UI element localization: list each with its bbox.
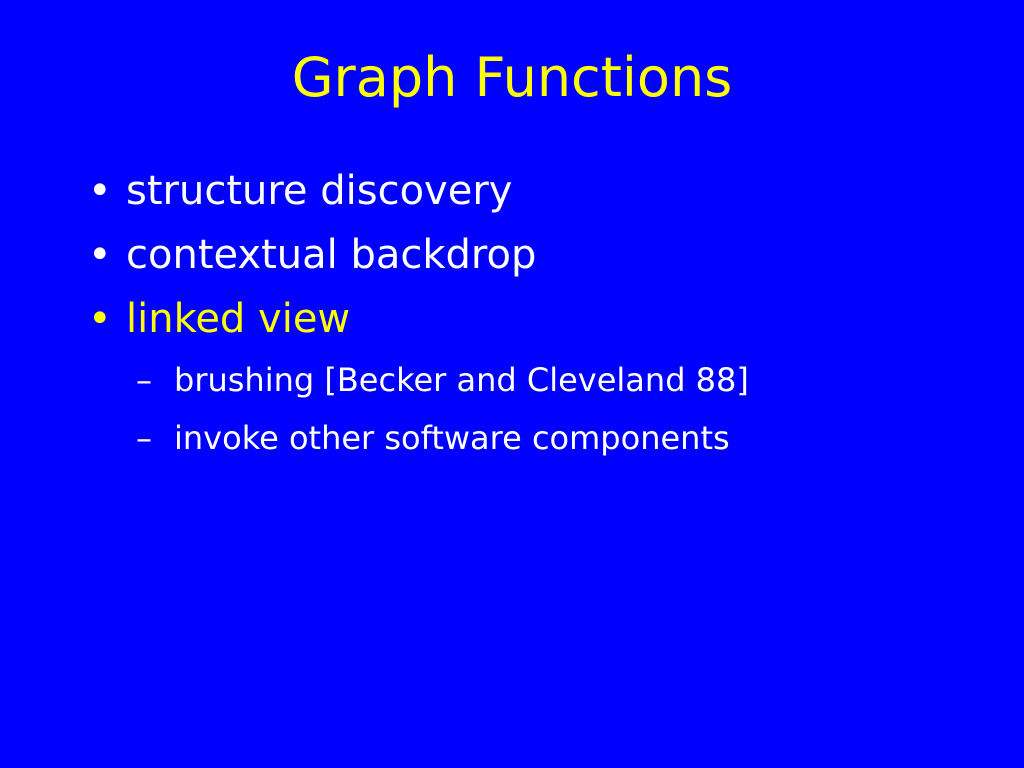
bullet-item-linked-view: • linked view bbox=[0, 296, 1024, 360]
bullet-text: contextual backdrop bbox=[126, 232, 536, 278]
presentation-slide: Graph Functions • structure discovery • … bbox=[0, 0, 1024, 768]
sub-bullet-text: invoke other software components bbox=[174, 418, 730, 458]
dash-marker-icon: – bbox=[136, 360, 174, 400]
sub-bullet-item-brushing: – brushing [Becker and Cleveland 88] bbox=[0, 360, 1024, 418]
bullet-item-contextual-backdrop: • contextual backdrop bbox=[0, 232, 1024, 296]
slide-body-outline: • structure discovery • contextual backd… bbox=[0, 168, 1024, 476]
bullet-marker-icon: • bbox=[88, 232, 126, 278]
bullet-item-structure-discovery: • structure discovery bbox=[0, 168, 1024, 232]
sub-bullet-text: brushing [Becker and Cleveland 88] bbox=[174, 360, 749, 400]
bullet-marker-icon: • bbox=[88, 168, 126, 214]
slide-title: Graph Functions bbox=[0, 48, 1024, 108]
bullet-text: structure discovery bbox=[126, 168, 512, 214]
dash-marker-icon: – bbox=[136, 418, 174, 458]
bullet-text: linked view bbox=[126, 296, 350, 342]
sub-bullet-item-invoke-components: – invoke other software components bbox=[0, 418, 1024, 476]
bullet-marker-icon: • bbox=[88, 296, 126, 342]
